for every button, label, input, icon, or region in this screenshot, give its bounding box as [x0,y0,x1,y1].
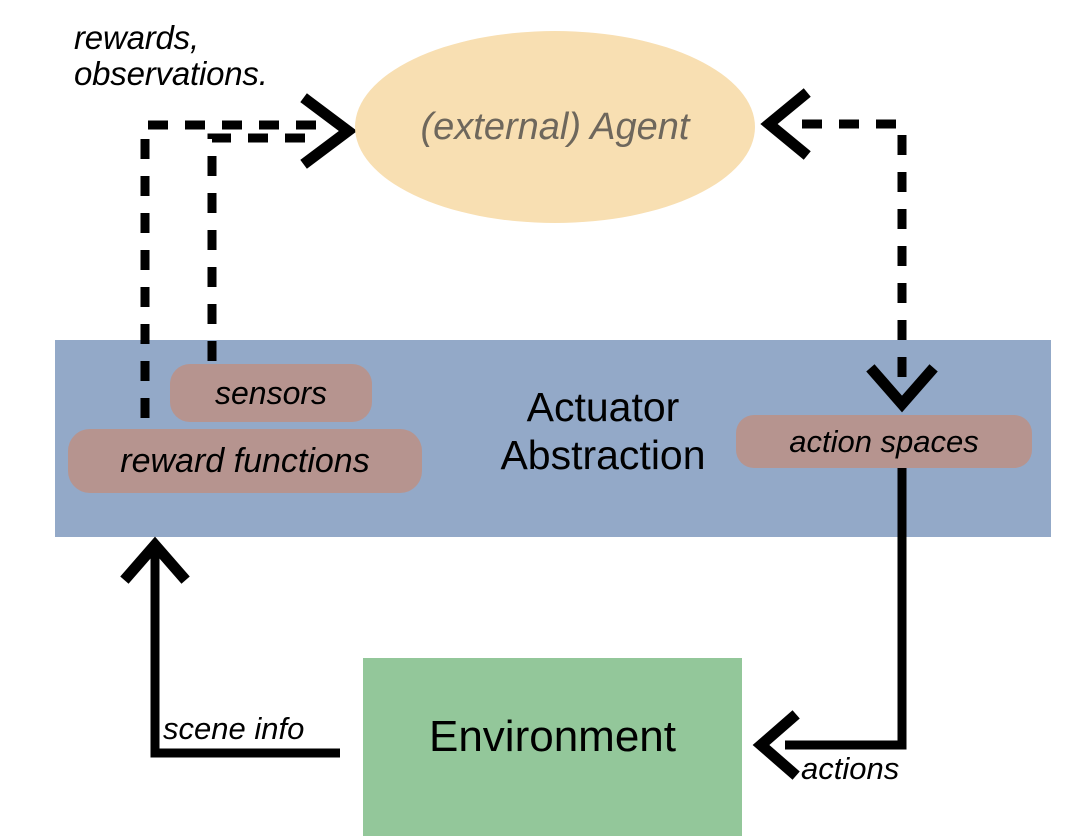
component-pill-action-spaces-label: action spaces [789,424,979,460]
component-pill-reward-functions[interactable]: reward functions [68,429,422,493]
edge-label-observations-line2: observations. [74,56,268,92]
external-agent-label: (external) Agent [421,106,690,149]
arrowhead-into-agent-right-icon [769,96,803,152]
diagram-canvas: (external) Agent Actuator Abstraction se… [0,0,1091,836]
edge-label-rewards-observations: rewards, observations. [74,20,268,91]
component-pill-sensors-label: sensors [215,375,327,412]
edge-agent-to-action-spaces [802,124,902,380]
component-pill-reward-functions-label: reward functions [120,442,369,481]
actuator-abstraction-title: Actuator Abstraction [478,383,728,480]
edge-label-rewards-line1: rewards, [74,20,268,56]
edge-action-spaces-to-environment [785,468,902,745]
external-agent-node[interactable]: (external) Agent [355,31,755,223]
edge-label-actions: actions [801,752,899,785]
component-pill-action-spaces[interactable]: action spaces [736,415,1032,468]
component-pill-sensors[interactable]: sensors [170,364,372,422]
actuator-abstraction-title-line2: Abstraction [478,431,728,479]
actuator-abstraction-title-line1: Actuator [478,383,728,431]
edge-label-scene-info: scene info [163,712,304,745]
arrowhead-into-agent-icon [308,101,348,161]
environment-label: Environment [363,712,742,762]
edge-sensors-to-agent [212,138,320,398]
